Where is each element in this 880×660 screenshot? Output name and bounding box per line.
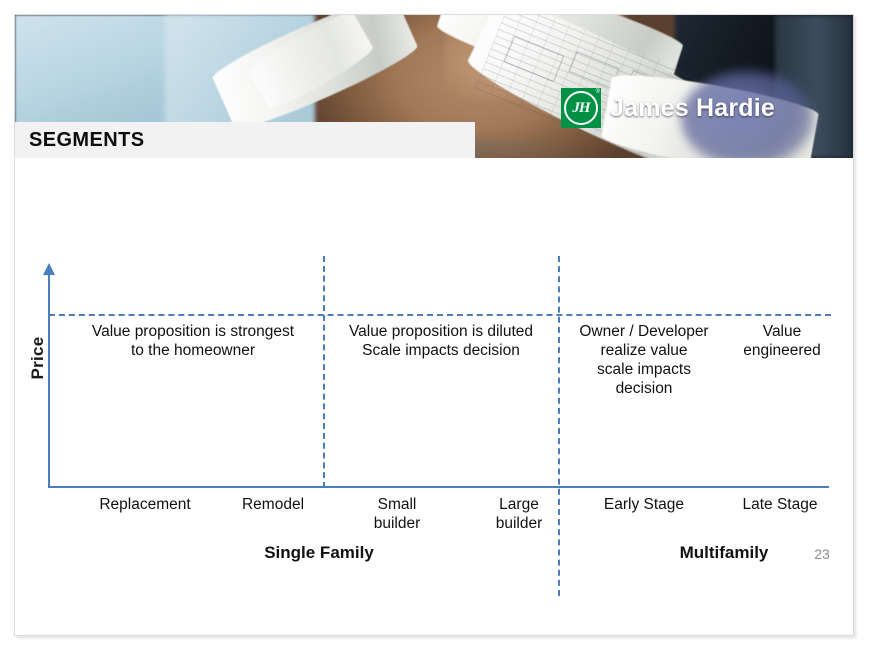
registered-trademark-icon: ® bbox=[596, 89, 600, 95]
x-tick-line: Early Stage bbox=[571, 496, 717, 515]
matrix-cell-line: scale impacts bbox=[566, 361, 722, 380]
company-name: James Hardie bbox=[610, 94, 775, 123]
matrix-cell-line: decision bbox=[566, 380, 722, 399]
matrix-cell-line: Owner / Developer bbox=[566, 323, 722, 342]
group-label-multifamily: Multifamily bbox=[627, 543, 821, 563]
x-tick-small-builder: Small builder bbox=[339, 496, 455, 534]
james-hardie-logo: JH ® James Hardie bbox=[561, 88, 775, 128]
slide: JH ® James Hardie SEGMENTS Price Value p… bbox=[14, 14, 854, 636]
y-axis-line bbox=[48, 273, 50, 488]
dashed-divider-multifamily-split bbox=[558, 256, 560, 596]
x-tick-early-stage: Early Stage bbox=[571, 496, 717, 515]
x-tick-large-builder: Large builder bbox=[463, 496, 575, 534]
x-axis-line bbox=[48, 486, 829, 488]
jh-monogram-letters: JH bbox=[572, 101, 589, 116]
x-tick-line: Small bbox=[339, 496, 455, 515]
x-tick-replacement: Replacement bbox=[67, 496, 223, 515]
matrix-cell-line: engineered bbox=[727, 342, 837, 361]
matrix-cell-line: Scale impacts decision bbox=[329, 342, 553, 361]
x-tick-line: Remodel bbox=[213, 496, 333, 515]
jh-monogram-icon: JH ® bbox=[561, 88, 601, 128]
matrix-cell-line: Value proposition is diluted bbox=[329, 323, 553, 342]
segments-matrix-diagram: Price Value proposition is strongest to … bbox=[15, 158, 853, 635]
y-axis-label: Price bbox=[28, 323, 48, 393]
matrix-cell-line: Value proposition is strongest bbox=[69, 323, 317, 342]
group-label-single-family: Single Family bbox=[217, 543, 421, 563]
matrix-cell-line: to the homeowner bbox=[69, 342, 317, 361]
header-photo-banner: JH ® James Hardie SEGMENTS bbox=[15, 15, 853, 158]
matrix-cell-line: realize value bbox=[566, 342, 722, 361]
x-tick-late-stage: Late Stage bbox=[715, 496, 845, 515]
matrix-cell-replacement-remodel: Value proposition is strongest to the ho… bbox=[69, 323, 317, 361]
x-tick-line: Late Stage bbox=[715, 496, 845, 515]
top-dashed-divider bbox=[49, 314, 831, 316]
x-tick-remodel: Remodel bbox=[213, 496, 333, 515]
x-tick-line: builder bbox=[463, 515, 575, 534]
matrix-cell-early-stage: Owner / Developer realize value scale im… bbox=[566, 323, 722, 399]
matrix-cell-line: Value bbox=[727, 323, 837, 342]
x-tick-line: Large bbox=[463, 496, 575, 515]
page-title: SEGMENTS bbox=[29, 129, 144, 152]
x-tick-line: builder bbox=[339, 515, 455, 534]
dashed-divider-single-family-split bbox=[323, 256, 325, 488]
matrix-cell-small-large-builder: Value proposition is diluted Scale impac… bbox=[329, 323, 553, 361]
x-tick-line: Replacement bbox=[67, 496, 223, 515]
matrix-cell-late-stage: Value engineered bbox=[727, 323, 837, 361]
title-band: SEGMENTS bbox=[15, 122, 475, 158]
jh-monogram-ring: JH bbox=[564, 91, 598, 125]
page-number: 23 bbox=[805, 546, 839, 562]
